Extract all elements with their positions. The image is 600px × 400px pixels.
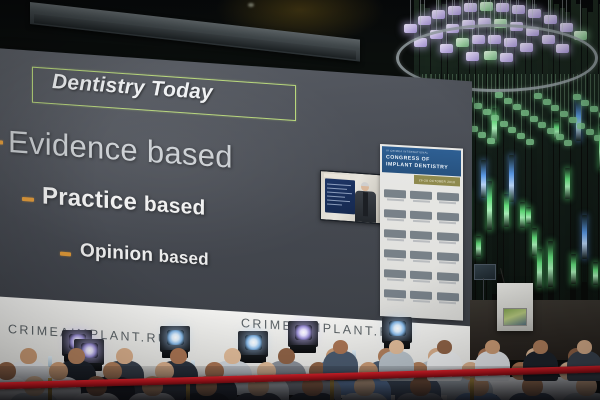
stem-bulb <box>474 103 482 109</box>
pendant-stem <box>580 0 581 31</box>
feed-speaker-shirt <box>363 192 368 216</box>
stem-bulb <box>560 111 568 117</box>
sponsor-logo-mark <box>410 290 432 299</box>
sponsor-logo-caption <box>413 200 430 203</box>
audience-head <box>20 348 37 364</box>
sponsor-logo <box>436 269 460 287</box>
sponsor-logo-mark <box>410 190 432 199</box>
conference-hall-screenshot: Dentistry Today Evidence based Practice … <box>0 0 600 400</box>
feed-slide-line <box>327 183 351 186</box>
bullet-3-strong: Opinion <box>80 240 153 266</box>
audience-head <box>533 340 548 354</box>
sponsor-logo-caption <box>439 222 456 225</box>
stem-bulb <box>543 99 551 105</box>
bullet-1-strong: Evidence <box>8 124 138 168</box>
bullet-dash-3 <box>60 252 71 257</box>
pendant-stem <box>550 0 551 15</box>
sponsor-logo <box>409 248 433 266</box>
sponsor-logo-mark <box>437 292 459 301</box>
sponsor-logo-caption <box>387 239 404 242</box>
sponsor-logo <box>409 188 433 206</box>
feed-slide-line <box>327 191 352 194</box>
audience-head <box>68 348 85 364</box>
sponsor-logo-caption <box>439 242 456 245</box>
sponsor-logo <box>436 229 460 247</box>
pendant-stem <box>532 0 533 27</box>
feed-slide-line <box>327 199 350 202</box>
audience-head <box>437 340 452 354</box>
pendant-stem <box>438 0 439 10</box>
sponsor-logo-caption <box>387 219 404 222</box>
bullet-dash-2 <box>22 197 34 202</box>
audience-head <box>224 348 241 364</box>
stem-bulb <box>513 104 521 110</box>
rod-light-segment <box>565 168 570 199</box>
audience-head <box>577 340 592 354</box>
audience-head <box>278 348 295 364</box>
pendant-stem <box>410 0 411 24</box>
rod-light-segment <box>504 194 509 227</box>
sponsor-logo-caption <box>413 240 430 243</box>
feed-projected-slide <box>325 178 355 214</box>
stem-bulb <box>594 135 600 141</box>
sponsor-logo-caption <box>439 302 456 305</box>
stem-bulb <box>564 140 572 146</box>
stem-bulb <box>569 117 577 123</box>
sponsor-logo-mark <box>437 232 459 241</box>
stem-bulb <box>590 106 598 112</box>
stem-bulb <box>491 115 499 121</box>
feed-speaker-hair <box>361 182 369 187</box>
sponsor-logo <box>436 289 460 307</box>
sponsor-logo-mark <box>437 212 459 221</box>
audience-head <box>333 340 348 354</box>
sponsor-logo-mark <box>437 252 459 261</box>
stem-bulb <box>487 138 495 144</box>
bullet-dash-1 <box>0 140 3 145</box>
sponsor-logo-mark <box>384 269 406 278</box>
bullet-1-soft: based <box>147 134 233 175</box>
live-speaker-feed <box>320 170 384 224</box>
stem-bulb <box>504 98 512 104</box>
sponsor-logo-caption <box>387 199 404 202</box>
monitor-stand <box>483 278 484 300</box>
pendant-light <box>528 9 541 18</box>
audience-head <box>116 348 133 364</box>
sponsor-logo-caption <box>413 260 430 263</box>
pendant-stem <box>420 0 421 38</box>
stem-bulb <box>586 129 594 135</box>
sponsor-logo-mark <box>384 249 406 258</box>
sponsor-logo-mark <box>410 210 432 219</box>
sponsor-logo <box>409 268 433 286</box>
slide-bullet-1: Evidence based <box>8 124 233 176</box>
sponsor-logo-caption <box>387 299 404 302</box>
sponsor-logo-caption <box>387 259 404 262</box>
sponsor-logo-mark <box>384 189 406 198</box>
sponsor-logo <box>409 208 433 226</box>
sponsor-logo <box>436 189 460 207</box>
sponsor-logo-caption <box>439 202 456 205</box>
sponsor-logo-mark <box>384 289 406 298</box>
pendant-light <box>496 3 509 12</box>
sponsor-logo-caption <box>387 279 404 282</box>
stem-bulb <box>483 109 491 115</box>
rod-light-segment <box>532 228 537 256</box>
bullet-3-soft: based <box>159 247 209 270</box>
wall-monitor <box>474 264 496 280</box>
sponsor-logo-mark <box>384 209 406 218</box>
audience-head <box>389 340 404 354</box>
sponsor-logo <box>436 249 460 267</box>
stem-bulb <box>547 128 555 134</box>
audience-head <box>170 348 187 364</box>
pendant-light <box>432 10 445 19</box>
audience-area <box>0 318 600 400</box>
pendant-light <box>480 2 493 11</box>
pendant-stem <box>516 0 517 22</box>
bullet-2-strong: Practice <box>42 182 137 216</box>
pendant-stem <box>500 0 501 19</box>
sponsor-logo <box>383 266 407 284</box>
stem-bulb <box>517 133 525 139</box>
sponsor-logo-caption <box>413 220 430 223</box>
sponsor-logo <box>383 246 407 264</box>
pendant-stem <box>468 0 469 20</box>
ceiling-spot-icon <box>248 3 254 7</box>
sponsor-logo-caption <box>413 280 430 283</box>
sponsor-logo <box>436 209 460 227</box>
stem-bulb <box>551 105 559 111</box>
pendant-stem <box>484 0 485 18</box>
rod-light-segment <box>520 202 525 228</box>
banner-title: CONGRESS OF IMPLANT DENTISTRY <box>386 154 457 172</box>
feed-slide-line <box>327 203 342 205</box>
stem-bulb <box>530 116 538 122</box>
sponsor-logo-mark <box>384 229 406 238</box>
rod-light-segment <box>476 236 481 257</box>
pendant-light <box>464 3 477 12</box>
rod-light-segment <box>571 254 576 284</box>
pendant-stem <box>534 0 535 9</box>
sponsor-logo <box>409 288 433 306</box>
pendant-stem <box>566 0 567 23</box>
rod-light-segment <box>481 160 486 198</box>
rod-light-segment <box>526 207 531 224</box>
pendant-stem <box>436 0 437 30</box>
sponsor-logo-caption <box>439 262 456 265</box>
pendant-light <box>404 24 417 33</box>
stem-bulb <box>556 134 564 140</box>
sponsor-logo <box>383 286 407 304</box>
stem-bulb <box>500 121 508 127</box>
feed-slide-line <box>327 195 345 197</box>
stem-bulb <box>478 132 486 138</box>
sponsor-logo-caption <box>413 300 430 303</box>
sponsor-logo-mark <box>410 270 432 279</box>
stem-bulb <box>521 110 529 116</box>
pendant-light <box>448 6 461 15</box>
banner-dates: 26-28 OCTOBER 2018 <box>414 175 460 187</box>
pendant-stem <box>424 0 425 16</box>
sponsor-logo <box>383 206 407 224</box>
pendant-light <box>512 5 525 14</box>
sponsor-logo-caption <box>439 282 456 285</box>
rod-light-segment <box>593 262 598 285</box>
rod-light-segment <box>582 215 587 259</box>
sponsor-logo-mark <box>437 272 459 281</box>
audience-head <box>485 340 500 354</box>
pendant-light <box>544 15 557 24</box>
slide-bullet-3: Opinion based <box>80 240 209 271</box>
pendant-stem <box>452 0 453 24</box>
bullet-2-soft: based <box>144 192 206 219</box>
sponsor-logo-mark <box>410 250 432 259</box>
stem-bulb <box>526 139 534 145</box>
sponsor-logo-mark <box>410 230 432 239</box>
sponsor-banner: IV CRIMEA INTERNATIONAL CONGRESS OF IMPL… <box>380 144 463 321</box>
sponsor-logo <box>383 226 407 244</box>
sponsor-logo-mark <box>437 192 459 201</box>
rod-light-segment <box>509 155 514 202</box>
feed-slide-line <box>327 187 347 189</box>
stem-bulb <box>581 100 589 106</box>
slide-bullet-2: Practice based <box>42 182 206 221</box>
stem-bulb <box>508 127 516 133</box>
stem-bulb <box>573 94 581 100</box>
rod-light-segment <box>537 249 542 288</box>
rod-light-segment <box>487 181 492 230</box>
stem-bulb <box>538 122 546 128</box>
sponsor-logo-grid <box>383 186 460 307</box>
sponsor-logo <box>383 186 407 204</box>
sponsor-logo <box>409 228 433 246</box>
stem-bulb <box>577 123 585 129</box>
rod-light-segment <box>548 241 553 287</box>
banner-header: IV CRIMEA INTERNATIONAL CONGRESS OF IMPL… <box>382 146 461 176</box>
